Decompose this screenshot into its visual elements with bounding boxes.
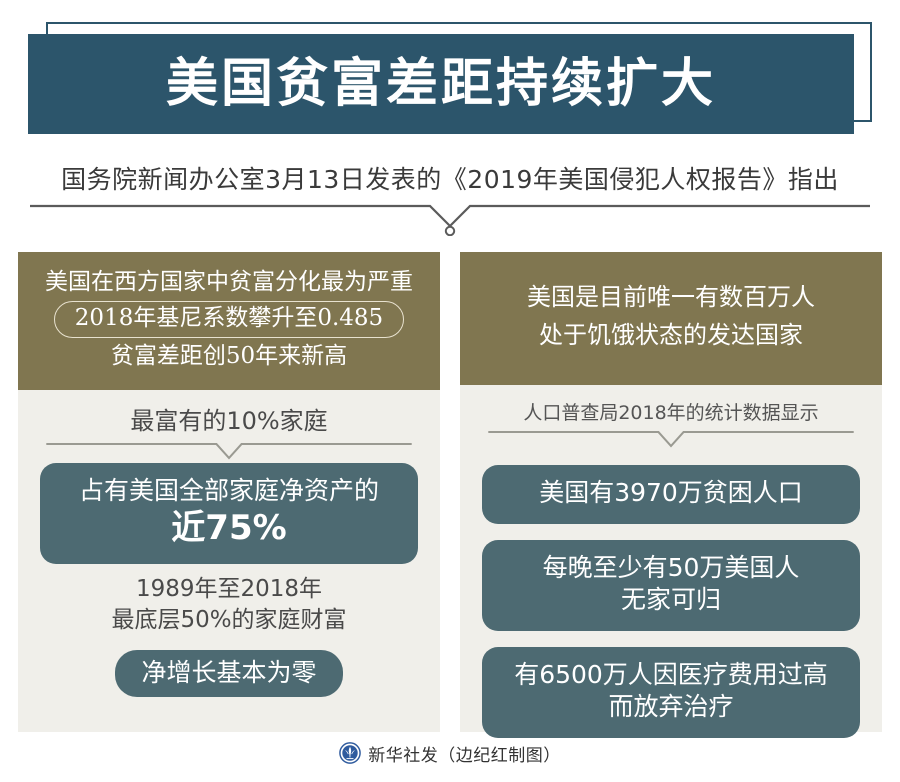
xinhua-logo-icon: [339, 742, 361, 764]
left-pill-row: 净增长基本为零: [40, 650, 418, 697]
footer-credit: 新华社发（边纪红制图）: [368, 741, 561, 766]
left-highlight-box: 占有美国全部家庭净资产的 近75%: [40, 463, 418, 564]
right-top-gap: [482, 451, 860, 465]
left-box-line-1: 占有美国全部家庭净资产的: [54, 475, 404, 508]
left-lead-text: 最富有的10%家庭: [40, 406, 418, 437]
right-box-3-line-2: 而放弃治疗: [496, 691, 846, 724]
left-header-pill: 2018年基尼系数攀升至0.485: [54, 301, 404, 338]
left-lead-divider: [40, 441, 418, 463]
left-panel-body: 最富有的10%家庭 占有美国全部家庭净资产的 近75% 1989年至2018年 …: [18, 390, 440, 742]
right-stat-box-1: 美国有3970万贫困人口: [482, 465, 860, 524]
right-stat-box-3: 有6500万人因医疗费用过高 而放弃治疗: [482, 647, 860, 738]
left-note-gap: [40, 636, 418, 650]
subtitle-text: 国务院新闻办公室3月13日发表的《2019年美国侵犯人权报告》指出: [30, 164, 870, 195]
left-note-line-2: 最底层50%的家庭财富: [40, 605, 418, 636]
right-panel-body: 人口普查局2018年的统计数据显示 美国有3970万贫困人口 每晚至少有50万美…: [460, 385, 882, 782]
subtitle-zone: 国务院新闻办公室3月13日发表的《2019年美国侵犯人权报告》指出: [30, 164, 870, 236]
left-bottom-gap: [40, 697, 418, 723]
right-stat-box-2: 每晚至少有50万美国人 无家可归: [482, 540, 860, 631]
left-header-line-1: 美国在西方国家中贫富分化最为严重: [30, 266, 428, 299]
left-spacer: [40, 564, 418, 574]
right-lead-text: 人口普查局2018年的统计数据显示: [482, 401, 860, 426]
right-lead-divider: [482, 429, 860, 451]
right-box-3-line-1: 有6500万人因医疗费用过高: [496, 659, 846, 692]
left-pill-badge: 净增长基本为零: [115, 650, 342, 697]
page-title: 美国贫富差距持续扩大: [166, 58, 716, 110]
left-panel: 美国在西方国家中贫富分化最为严重 2018年基尼系数攀升至0.485 贫富差距创…: [18, 252, 440, 732]
left-note-line-1: 1989年至2018年: [40, 574, 418, 605]
footer: 新华社发（边纪红制图）: [0, 736, 900, 770]
left-box-line-2: 近75%: [54, 507, 404, 550]
right-header-line-2: 处于饥饿状态的发达国家: [472, 316, 870, 354]
title-zone: 美国贫富差距持续扩大: [28, 22, 872, 142]
right-box-1-line-1: 美国有3970万贫困人口: [496, 477, 846, 510]
left-header-line-3: 贫富差距创50年来新高: [30, 340, 428, 373]
right-panel: 美国是目前唯一有数百万人 处于饥饿状态的发达国家 人口普查局2018年的统计数据…: [460, 252, 882, 732]
right-box-2-line-2: 无家可归: [496, 584, 846, 617]
subtitle-divider: [30, 202, 870, 236]
right-box-2-line-1: 每晚至少有50万美国人: [496, 552, 846, 585]
left-panel-header: 美国在西方国家中贫富分化最为严重 2018年基尼系数攀升至0.485 贫富差距创…: [18, 252, 440, 390]
right-panel-header: 美国是目前唯一有数百万人 处于饥饿状态的发达国家: [460, 252, 882, 385]
title-bar: 美国贫富差距持续扩大: [28, 34, 854, 134]
content-columns: 美国在西方国家中贫富分化最为严重 2018年基尼系数攀升至0.485 贫富差距创…: [18, 252, 882, 732]
right-header-line-1: 美国是目前唯一有数百万人: [472, 278, 870, 316]
